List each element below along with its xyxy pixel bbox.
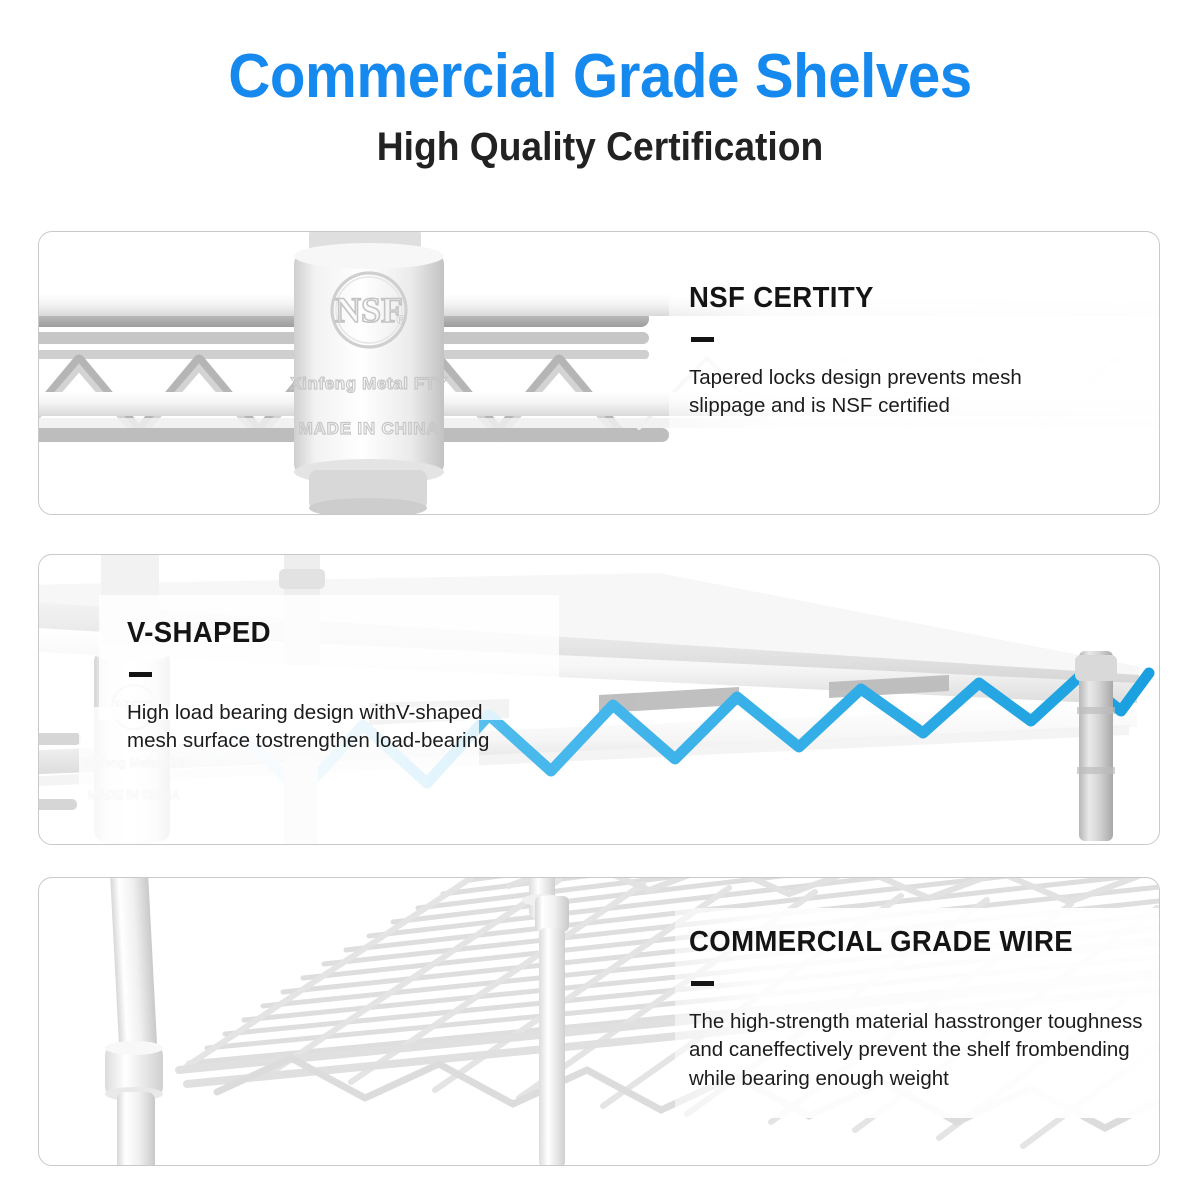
svg-text:Xinfeng Metal FTY: Xinfeng Metal FTY xyxy=(290,374,448,393)
divider-dash xyxy=(691,337,714,342)
shelf-post-right xyxy=(1075,651,1117,841)
shelf-lock-clip: NSF ® Xinfeng Metal FTY MADE IN CHINA xyxy=(290,232,448,514)
page-title: Commercial Grade Shelves xyxy=(36,44,1164,109)
page-subtitle: High Quality Certification xyxy=(42,125,1158,170)
feature-body: The high-strength material hasstronger t… xyxy=(689,1008,1159,1093)
svg-text:®: ® xyxy=(396,312,406,327)
feature-title: V-SHAPED xyxy=(127,617,545,650)
feature-title: NSF CERTITY xyxy=(689,282,1098,315)
page-header: Commercial Grade Shelves High Quality Ce… xyxy=(0,0,1200,170)
feature-card-v-shaped: NSF Xinfeng Metal FTY MADE IN CHINA V-SH… xyxy=(38,554,1160,845)
divider-dash xyxy=(691,981,714,986)
feature-body: High load bearing design withV-shaped me… xyxy=(127,699,567,756)
feature-text-nsf-certity: NSF CERTITY Tapered locks design prevent… xyxy=(689,282,1119,421)
svg-text:MADE IN CHINA: MADE IN CHINA xyxy=(299,419,440,438)
shelf-post-rear xyxy=(522,878,569,1165)
feature-text-commercial-grade-wire: COMMERCIAL GRADE WIRE The high-strength … xyxy=(689,926,1159,1093)
feature-card-commercial-grade-wire: COMMERCIAL GRADE WIRE The high-strength … xyxy=(38,877,1160,1166)
feature-body: Tapered locks design prevents mesh slipp… xyxy=(689,364,1119,421)
divider-dash xyxy=(129,672,152,677)
feature-title: COMMERCIAL GRADE WIRE xyxy=(689,926,1136,959)
feature-card-nsf-certity: NSF ® Xinfeng Metal FTY MADE IN CHINA NS… xyxy=(38,231,1160,515)
svg-text:NSF: NSF xyxy=(335,290,403,330)
feature-text-v-shaped: V-SHAPED High load bearing design withV-… xyxy=(127,617,567,756)
shelf-post xyxy=(105,878,163,1165)
